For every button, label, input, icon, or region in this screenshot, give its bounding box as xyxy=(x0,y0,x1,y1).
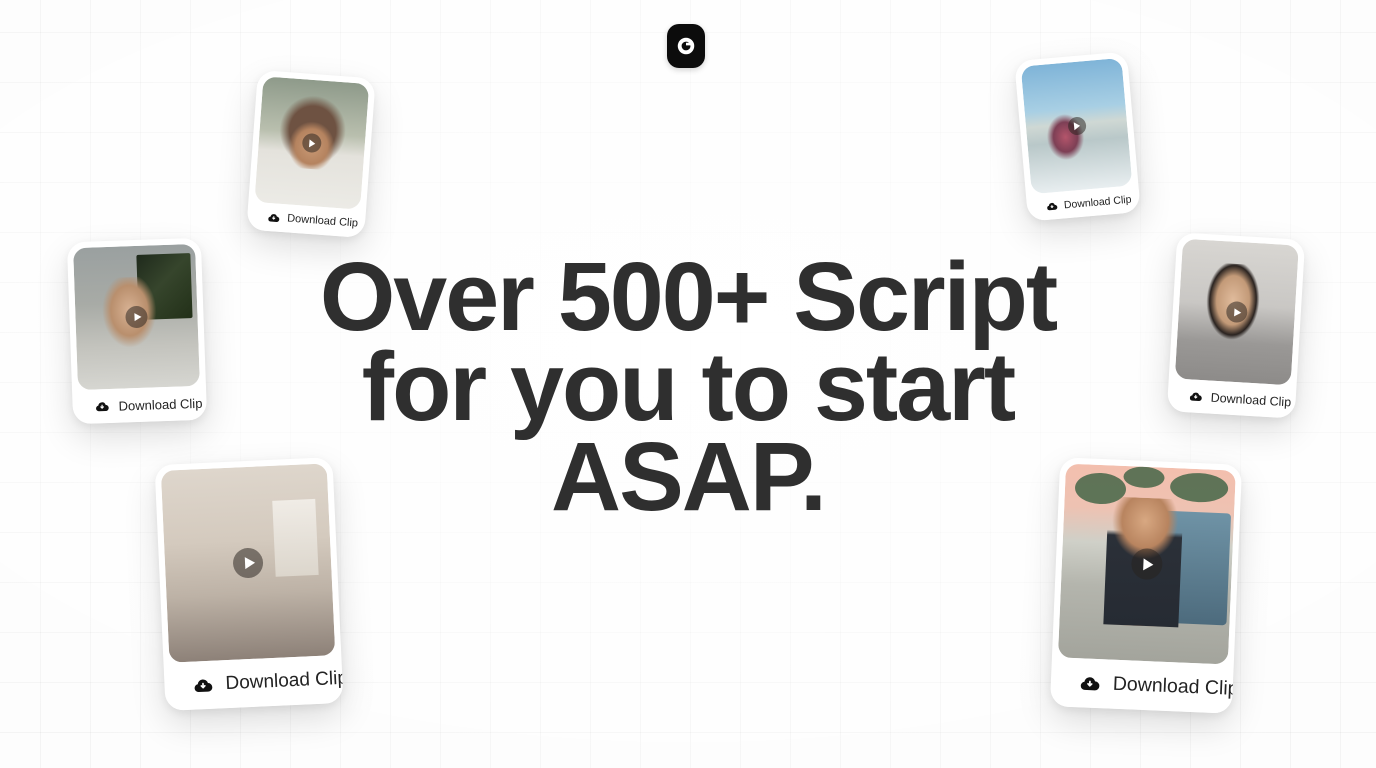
video-thumbnail[interactable] xyxy=(254,76,369,209)
download-clip-label: Download Clip xyxy=(287,212,359,229)
cloud-download-icon xyxy=(192,674,214,696)
cloud-download-icon xyxy=(267,210,281,224)
download-clip-label: Download Clip xyxy=(1063,193,1131,211)
video-thumbnail[interactable] xyxy=(1021,58,1133,194)
video-card-snow[interactable]: Download Clip xyxy=(1014,51,1141,221)
page-headline: Over 500+ Script for you to start ASAP. xyxy=(0,252,1376,523)
cloud-download-icon xyxy=(1045,199,1058,212)
headline-line-1: Over 500+ Script xyxy=(0,252,1376,342)
video-card-curly[interactable]: Download Clip xyxy=(246,70,375,238)
download-clip-button[interactable]: Download Clip xyxy=(169,655,337,710)
download-clip-button[interactable]: Download Clip xyxy=(1056,657,1228,713)
headline-line-2: for you to start xyxy=(0,342,1376,432)
download-clip-label: Download Clip xyxy=(225,668,343,696)
headline-line-3: ASAP. xyxy=(0,432,1376,522)
logo-c-icon xyxy=(675,35,697,57)
brand-logo[interactable] xyxy=(667,24,705,68)
download-clip-label: Download Clip xyxy=(1112,673,1239,701)
cloud-download-icon xyxy=(1078,672,1101,695)
